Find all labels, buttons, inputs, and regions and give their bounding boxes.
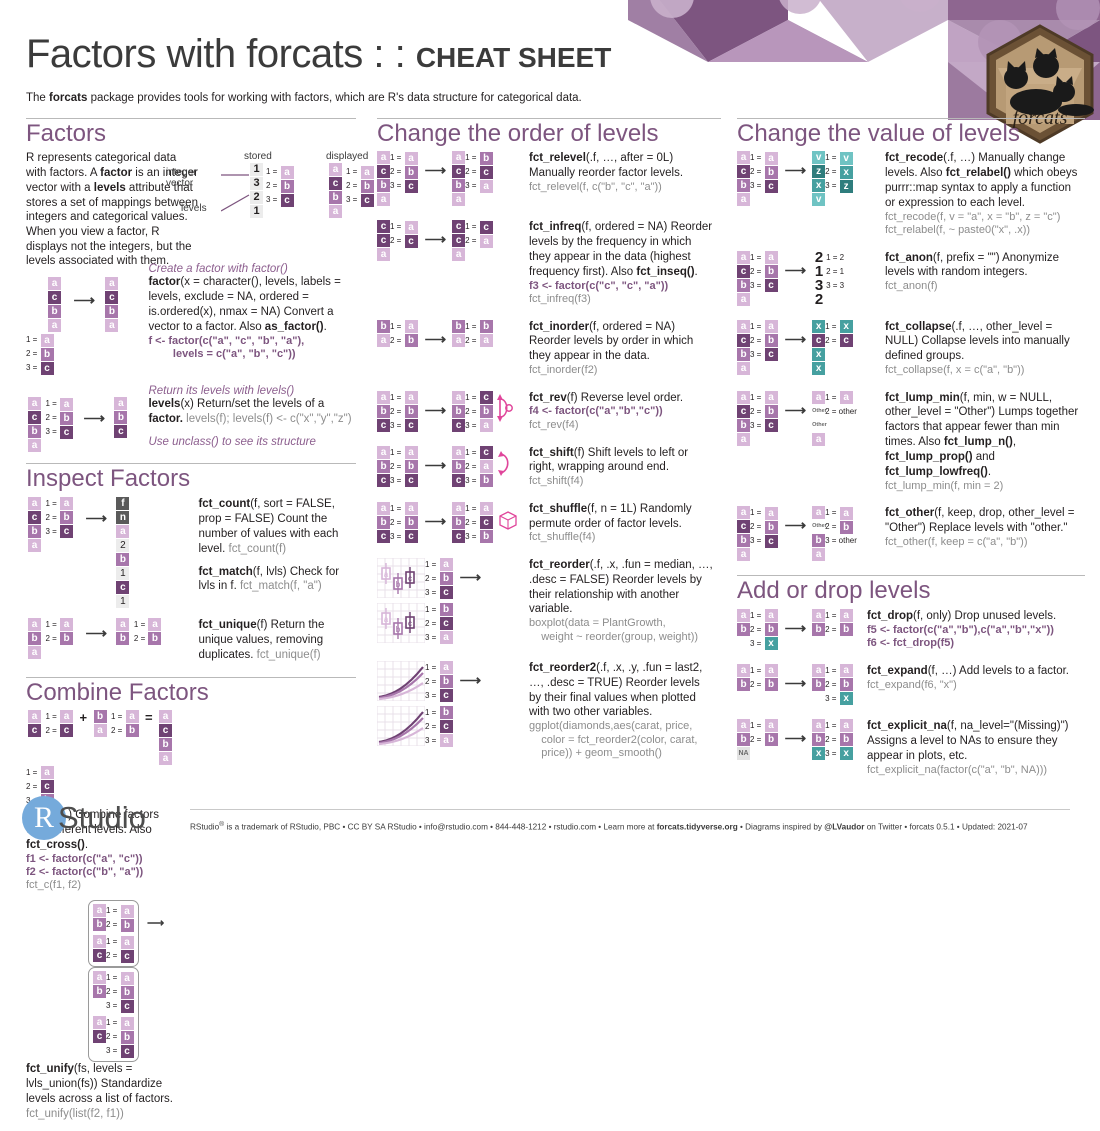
- example-fct-infreq: cca1 = a2 = c⟶cca1 = c2 = afct_infreq(f,…: [377, 220, 721, 306]
- column-left: Factors R represents categorical data wi…: [26, 118, 356, 1131]
- level-chip: c: [812, 334, 825, 347]
- svg-text:c: c: [408, 574, 412, 583]
- input-stack: cca: [377, 220, 390, 262]
- level-chip: b: [840, 623, 853, 636]
- input-stack: abNA: [737, 719, 750, 761]
- level-chip: a: [480, 334, 493, 347]
- txt-fct-other: fct_other(f, keep, drop, other_level = "…: [885, 506, 1081, 549]
- table-header-cell: n: [116, 511, 129, 524]
- level-chip: a: [452, 248, 465, 261]
- level-chip: a: [60, 497, 73, 510]
- example-fct-unique: aba 1 = a2 = b ⟶ ab 1 = a2 = b fct_uniqu…: [26, 618, 356, 663]
- displayed-stack: acba: [329, 163, 342, 219]
- level-chip: b: [737, 348, 750, 361]
- level-chip: a: [48, 319, 61, 332]
- level-chip: c: [405, 235, 418, 248]
- table-row: b1: [116, 553, 130, 580]
- table-count-cell: 1: [116, 595, 129, 608]
- transform-arrow: ⟶: [778, 609, 813, 637]
- fn-fct-count: fct_count(f, sort = FALSE, prop = FALSE)…: [198, 497, 348, 557]
- example-fct-expand: ab1 = a2 = b⟶ab1 = a2 = b3 = xfct_expand…: [737, 664, 1085, 706]
- level-chip: a: [440, 734, 453, 747]
- transform-arrow: ⟶: [778, 664, 813, 692]
- level-chip: b: [94, 710, 107, 723]
- displayed-stack: acba: [329, 163, 342, 219]
- input-mapping: 1 = a2 = b: [750, 664, 778, 692]
- level-chip: b: [405, 516, 418, 529]
- level-chip: Other: [812, 419, 825, 432]
- column-middle: Change the order of levels acba1 = a2 = …: [377, 118, 721, 773]
- level-chip: a: [329, 163, 342, 176]
- example-levels: acba 1 = a2 = b3 = c ⟶ abc Return its le…: [26, 385, 356, 453]
- level-chip: a: [737, 664, 750, 677]
- input-mapping: 1 = a2 = c: [390, 220, 418, 248]
- level-chip: b: [48, 305, 61, 318]
- level-chip: a: [361, 166, 374, 179]
- code-fct-c: f1 <- factor(c("a", "c")) f2 <- factor(c…: [26, 853, 174, 879]
- divider: [26, 677, 356, 678]
- fn-fct-collapse: fct_collapse(.f, …, other_level = NULL) …: [885, 320, 1081, 365]
- heading-create-factor: Create a factor with factor(): [148, 263, 353, 275]
- level-chip: c: [737, 165, 750, 178]
- viz-fct-rev: abc1 = a2 = b3 = c⟶abc1 = c2 = b3 = a: [377, 391, 529, 433]
- output-mapping: 1 = v2 = x3 = z: [825, 151, 853, 193]
- level-chip: b: [405, 460, 418, 473]
- level-chip: a: [440, 558, 453, 571]
- level-chip: b: [377, 516, 390, 529]
- code-purple: f5 <- factor(c("a","b"),c("a","b","x")) …: [867, 624, 1081, 650]
- section-title-value: Change the value of levels: [737, 121, 1085, 147]
- fctc-input1-stack: ac: [28, 710, 41, 738]
- level-chip: b: [41, 348, 54, 361]
- input-stack: abc: [377, 391, 390, 433]
- svg-text:b: b: [396, 580, 401, 589]
- level-chip: c: [480, 166, 493, 179]
- factor-output-stack: acba: [105, 277, 118, 333]
- level-chip: Other: [812, 520, 825, 533]
- viz-fct-unique: aba 1 = a2 = b ⟶ ab 1 = a2 = b: [26, 618, 194, 660]
- levels-input-mapping: 1 = a2 = b3 = c: [45, 397, 73, 439]
- level-chip: b: [812, 534, 825, 547]
- unique-input-mapping: 1 = a2 = b: [45, 618, 73, 646]
- factor-input-stack: acba: [48, 277, 61, 333]
- level-chip: c: [737, 265, 750, 278]
- example-fct-anon: acba1 = a2 = b3 = c⟶21321 = 22 = 13 = 3f…: [737, 251, 1085, 307]
- level-chip: a: [452, 193, 465, 206]
- level-chip: c: [765, 348, 778, 361]
- displayed-mapping-rows: 1 = a2 = b3 = c: [346, 165, 374, 207]
- fn-fct-explicit-na: fct_explicit_na(f, na_level="(Missing)")…: [867, 719, 1081, 764]
- level-chip: c: [121, 950, 134, 963]
- integer-chip: 1: [250, 205, 263, 218]
- level-chip: b: [60, 632, 73, 645]
- level-chip: b: [737, 279, 750, 292]
- output-mapping: 1 = c2 = a3 = b: [465, 446, 493, 488]
- level-chip: a: [737, 251, 750, 264]
- level-chip: b: [480, 474, 493, 487]
- example-fct-collapse: acba1 = a2 = b3 = c⟶xcxx1 = x2 = cfct_co…: [737, 320, 1085, 378]
- fn-fct-shuffle: fct_shuffle(f, n = 1L) Randomly permute …: [529, 502, 715, 532]
- reverse-icon: [493, 391, 514, 430]
- level-chip: a: [28, 710, 41, 723]
- level-chip: a: [28, 539, 41, 552]
- code-example: fct_other(f, keep = c("a", "b")): [885, 536, 1081, 549]
- level-chip: x: [812, 747, 825, 760]
- unify-stack: ac: [93, 935, 106, 963]
- level-chip: c: [480, 446, 493, 459]
- output-stack: abx: [812, 719, 825, 761]
- example-fct-shuffle: abc1 = a2 = b3 = c⟶abc1 = a2 = c3 = bfct…: [377, 502, 721, 545]
- level-chip: c: [765, 180, 778, 193]
- levels-output-stack: abc: [114, 397, 127, 439]
- txt-factor: Create a factor with factor() factor(x =…: [148, 263, 353, 361]
- level-chip: a: [377, 248, 390, 261]
- fn-fct-infreq: fct_infreq(f, ordered = NA) Reorder leve…: [529, 220, 715, 280]
- section-title-adddrop: Add or drop levels: [737, 578, 1085, 604]
- viz-fct-count: acba 1 = a2 = b3 = c ⟶ fna2b1c1: [26, 497, 194, 609]
- level-chip: b: [737, 534, 750, 547]
- level-chip: a: [405, 391, 418, 404]
- table-level-cell: a: [116, 525, 129, 538]
- level-chip: v: [812, 151, 825, 164]
- txt-fct-lump-min: fct_lump_min(f, min, w = NULL, other_lev…: [885, 391, 1081, 494]
- level-chip: c: [377, 419, 390, 432]
- heading-return-levels: Return its levels with levels(): [148, 385, 353, 397]
- unique-output-stack: ab: [116, 618, 129, 646]
- input-mapping: 1 = a2 = b3 = c: [390, 502, 418, 544]
- level-chip: c: [377, 474, 390, 487]
- fn-fct-match: fct_match(f, lvls) Check for lvls in f. …: [198, 565, 348, 595]
- input-mapping: 1 = a2 = b3 = c: [750, 320, 778, 362]
- unify-stack: ac: [93, 1016, 106, 1044]
- viz-fct-reorder: abc1 = a2 = b3 = c⟶abc1 = b2 = c3 = a: [377, 558, 529, 648]
- example-fct-inorder: ba1 = a2 = b⟶ba1 = b2 = afct_inorder(f, …: [377, 320, 721, 378]
- level-chip: a: [60, 710, 73, 723]
- level-chip: a: [812, 664, 825, 677]
- table-level-cell: b: [116, 553, 129, 566]
- level-chip: c: [737, 520, 750, 533]
- level-chip: b: [765, 265, 778, 278]
- level-chip: a: [737, 391, 750, 404]
- level-chip: a: [480, 235, 493, 248]
- level-chip: a: [812, 609, 825, 622]
- output-stack: cca: [452, 220, 465, 262]
- viz-fct-inorder: ba1 = a2 = b⟶ba1 = b2 = a: [377, 320, 529, 348]
- level-chip: b: [440, 706, 453, 719]
- level-chip: a: [840, 664, 853, 677]
- level-chip: a: [126, 710, 139, 723]
- level-chip: b: [737, 419, 750, 432]
- level-chip: a: [28, 397, 41, 410]
- viz-fct-lump-min: acba1 = a2 = b3 = c⟶aOtherOthera1 = a2 =…: [737, 391, 885, 447]
- level-chip: a: [840, 507, 853, 520]
- section-title-inspect: Inspect Factors: [26, 466, 356, 492]
- level-chip: c: [361, 194, 374, 207]
- input-mapping: 1 = a2 = b3 = c: [390, 446, 418, 488]
- transform-arrow: ⟶: [778, 320, 813, 348]
- txt-fct-reorder: fct_reorder(.f, .x, .fun = median, …, .d…: [529, 558, 715, 644]
- level-chip: c: [41, 362, 54, 375]
- viz-fct-recode: acba1 = a2 = b3 = c⟶vzxv1 = v2 = x3 = z: [737, 151, 885, 207]
- level-chip: c: [440, 720, 453, 733]
- level-chip: c: [28, 411, 41, 424]
- level-chip: c: [377, 220, 390, 233]
- input-mapping: 1 = a2 = b: [750, 719, 778, 747]
- factors-intro-block: R represents categorical data with facto…: [26, 151, 356, 257]
- integer-chip: 1: [250, 163, 263, 176]
- level-chip: a: [765, 664, 778, 677]
- level-chip: b: [452, 405, 465, 418]
- fn-fct-lump-min: fct_lump_min(f, min, w = NULL, other_lev…: [885, 391, 1081, 481]
- displayed-mapping: 1 = a2 = b3 = c: [346, 165, 374, 207]
- viz-fct-collapse: acba1 = a2 = b3 = c⟶xcxx1 = x2 = c: [737, 320, 885, 376]
- level-chip: b: [281, 180, 294, 193]
- code-example: ggplot(diamonds,aes(carat, price, color …: [529, 720, 715, 760]
- level-chip: c: [60, 426, 73, 439]
- level-chip: b: [377, 320, 390, 333]
- example-fct-lump-min: acba1 = a2 = b3 = c⟶aOtherOthera1 = a2 =…: [737, 391, 1085, 494]
- viz-fct-explicit-na: abNA1 = a2 = b⟶abx1 = a2 = b3 = x: [737, 719, 867, 761]
- input-mapping: 1 = a2 = b3 = c: [425, 661, 453, 703]
- output-stack: xcxx: [812, 320, 825, 376]
- example-fct-shift: abc1 = a2 = b3 = c⟶abc1 = c2 = a3 = bfct…: [377, 446, 721, 489]
- level-chip: b: [765, 623, 778, 636]
- output-mapping: 1 = a2 = b3 = x: [825, 719, 853, 761]
- output-stack: ab: [812, 609, 825, 637]
- level-chip: a: [480, 502, 493, 515]
- output-stack: abc: [452, 446, 465, 488]
- input-stack: acba: [737, 320, 750, 376]
- level-chip: x: [812, 362, 825, 375]
- txt-fct-infreq: fct_infreq(f, ordered = NA) Reorder leve…: [529, 220, 715, 306]
- code-example: fct_inorder(f2): [529, 364, 715, 377]
- code-example: fct_shift(f4): [529, 475, 715, 488]
- level-chip: c: [377, 234, 390, 247]
- boxplot-thumbnail: abc: [377, 558, 425, 603]
- output-stack: acba: [452, 151, 465, 207]
- level-chip: a: [116, 618, 129, 631]
- level-chip: a: [812, 548, 825, 561]
- level-chip: a: [765, 391, 778, 404]
- fct-count-table: fna2b1c1: [116, 497, 130, 609]
- level-chip: b: [840, 678, 853, 691]
- level-chip: b: [377, 405, 390, 418]
- input-mapping: 1 = a2 = b3 = c: [750, 151, 778, 193]
- level-chip: c: [440, 586, 453, 599]
- fn-fct-drop: fct_drop(f, only) Drop unused levels.: [867, 609, 1081, 624]
- level-chip: a: [765, 320, 778, 333]
- table-level-cell: c: [116, 581, 129, 594]
- level-chip: a: [377, 334, 390, 347]
- output-mapping: 1 = x2 = c: [825, 320, 853, 348]
- input-mapping: 1 = a2 = b3 = x: [750, 609, 778, 651]
- level-chip: c: [452, 530, 465, 543]
- level-chip: a: [60, 398, 73, 411]
- count-input-mapping: 1 = a2 = b3 = c: [45, 497, 73, 539]
- level-chip: c: [737, 334, 750, 347]
- example-fct-relevel: acba1 = a2 = b3 = c⟶acba1 = b2 = c3 = af…: [377, 151, 721, 207]
- level-chip: a: [440, 631, 453, 644]
- level-chip: v: [812, 193, 825, 206]
- level-chip: b: [114, 411, 127, 424]
- level-chip: b: [60, 511, 73, 524]
- divider: [737, 575, 1085, 576]
- input-stack: abc: [377, 502, 390, 544]
- level-chip: c: [765, 535, 778, 548]
- level-chip: a: [737, 548, 750, 561]
- example-factor: acba ⟶ acba 1 = a2 = b3 = c Create a fac…: [26, 263, 356, 375]
- integer-value: 2: [812, 293, 826, 307]
- factor-output-mapping: 1 = a2 = b3 = c: [26, 333, 54, 375]
- level-chip: x: [812, 179, 825, 192]
- level-chip: b: [377, 179, 390, 192]
- output-mapping: 1 = 22 = 13 = 3: [826, 251, 844, 293]
- level-chip: a: [452, 391, 465, 404]
- code-example: fct_explicit_na(factor(c("a", "b", NA))): [867, 764, 1081, 777]
- input-mapping: 1 = a2 = b3 = c: [425, 558, 453, 600]
- level-chip: c: [159, 724, 172, 737]
- level-chip: c: [405, 474, 418, 487]
- divider: [377, 118, 721, 119]
- output-mapping: 1 = b2 = c3 = a: [425, 706, 453, 748]
- level-chip: c: [28, 511, 41, 524]
- page-title: Factors with forcats : : CHEAT SHEET: [26, 32, 611, 77]
- level-chip: a: [105, 277, 118, 290]
- level-chip: c: [48, 291, 61, 304]
- input-stack: ab: [737, 609, 750, 637]
- level-chip: Other: [812, 405, 825, 418]
- unify-mapping: 1 = a2 = c: [106, 935, 134, 963]
- input-mapping: 1 = a2 = b3 = c: [750, 391, 778, 433]
- level-chip: c: [452, 419, 465, 432]
- label-integer-vector: integervector: [166, 167, 197, 189]
- code-example: fct_recode(f, v = "a", x = "b", z = "c")…: [885, 211, 1081, 237]
- level-chip: c: [452, 474, 465, 487]
- transform-arrow: ⟶: [418, 151, 453, 179]
- label-stored: stored: [244, 151, 272, 162]
- level-chip: b: [737, 623, 750, 636]
- shuffle-dice-icon: [493, 502, 518, 537]
- output-mapping: 1 = a2 = b3 = x: [825, 664, 853, 706]
- level-chip: b: [126, 724, 139, 737]
- level-chip: b: [405, 166, 418, 179]
- fn-fct-unify: fct_unify(fs, levels = lvls_union(fs)) S…: [26, 1062, 174, 1122]
- fn-fct-unique: fct_unique(f) Return the unique values, …: [198, 618, 348, 663]
- level-chip: b: [765, 405, 778, 418]
- level-chip: b: [765, 166, 778, 179]
- viz-fct-shift: abc1 = a2 = b3 = c⟶abc1 = c2 = a3 = b: [377, 446, 529, 488]
- level-chip: a: [737, 362, 750, 375]
- level-chip: b: [440, 572, 453, 585]
- title-cheatsheet: CHEAT SHEET: [416, 42, 612, 73]
- level-chip: b: [159, 738, 172, 751]
- level-chip: b: [452, 516, 465, 529]
- level-chip: c: [440, 617, 453, 630]
- level-chip: b: [440, 675, 453, 688]
- fn-fct-expand: fct_expand(f, …) Add levels to a factor.: [867, 664, 1081, 679]
- txt-fct-shift: fct_shift(f) Shift levels to left or rig…: [529, 446, 715, 489]
- example-fct-reorder2: 1 = a2 = b3 = c⟶1 = b2 = c3 = afct_reord…: [377, 661, 721, 760]
- viz-factor: acba ⟶ acba 1 = a2 = b3 = c: [26, 263, 144, 375]
- level-chip: c: [281, 194, 294, 207]
- footer: R Studio RStudio® is a trademark of RStu…: [0, 788, 1100, 850]
- level-chip: a: [377, 502, 390, 515]
- viz-fct-infreq: cca1 = a2 = c⟶cca1 = c2 = a: [377, 220, 529, 262]
- transform-arrow: ⟶: [453, 558, 488, 586]
- example-fct-rev: abc1 = a2 = b3 = c⟶abc1 = c2 = b3 = afct…: [377, 391, 721, 433]
- example-fct-other: acba1 = a2 = b3 = c⟶aOtherba1 = a2 = b3 …: [737, 506, 1085, 562]
- example-fct-drop: ab1 = a2 = b3 = x⟶ab1 = a2 = bfct_drop(f…: [737, 609, 1085, 651]
- fn-levels: levels(x) Return/set the levels of a fac…: [148, 397, 353, 427]
- fn-fct-relevel: fct_relevel(.f, …, after = 0L) Manually …: [529, 151, 715, 181]
- curves-thumbnail: [377, 661, 425, 706]
- output-mapping: 1 = a2 = other: [825, 391, 857, 419]
- level-chip: a: [28, 439, 41, 452]
- level-chip: a: [480, 460, 493, 473]
- count-input-stack: acba: [28, 497, 41, 553]
- table-count-cell: 2: [116, 539, 129, 552]
- unique-input-stack: aba: [28, 618, 41, 660]
- level-chip: a: [60, 618, 73, 631]
- level-chip: a: [377, 151, 390, 164]
- input-stack: acba: [377, 151, 390, 207]
- level-chip: c: [60, 525, 73, 538]
- input-stack: ba: [377, 320, 390, 348]
- level-chip: b: [405, 334, 418, 347]
- level-chip: a: [281, 166, 294, 179]
- fctc-output-stack: acba: [159, 710, 172, 766]
- input-stack: abc: [377, 446, 390, 488]
- input-mapping: 1 = a2 = b: [390, 320, 418, 348]
- level-chip: a: [405, 152, 418, 165]
- level-chip: b: [737, 678, 750, 691]
- input-stack: acba: [737, 506, 750, 562]
- level-chip: b: [116, 632, 129, 645]
- level-chip: x: [840, 320, 853, 333]
- input-mapping: 1 = a2 = b3 = c: [750, 251, 778, 293]
- transform-arrow: ⟶: [778, 506, 813, 534]
- unify-stack: ab: [93, 971, 106, 999]
- level-chip: b: [440, 603, 453, 616]
- level-chip: b: [812, 678, 825, 691]
- level-chip: a: [765, 152, 778, 165]
- example-fct-count: acba 1 = a2 = b3 = c ⟶ fna2b1c1 fct_coun…: [26, 497, 356, 609]
- svg-text:b: b: [396, 625, 401, 634]
- level-chip: a: [405, 320, 418, 333]
- integer-chip: 2: [250, 191, 263, 204]
- code-example: fct_relevel(f, c("b", "c", "a")): [529, 181, 715, 194]
- level-chip: a: [840, 391, 853, 404]
- output-mapping: 1 = a2 = c3 = b: [465, 502, 493, 544]
- level-chip: c: [405, 180, 418, 193]
- output-stack: ab: [812, 664, 825, 692]
- level-chip: b: [812, 733, 825, 746]
- level-chip: a: [159, 710, 172, 723]
- level-chip: a: [480, 180, 493, 193]
- level-chip: b: [405, 405, 418, 418]
- level-chip: a: [440, 661, 453, 674]
- level-chip: b: [148, 632, 161, 645]
- table-header-row: fn: [116, 497, 130, 524]
- level-chip: b: [765, 733, 778, 746]
- fn-fct-anon: fct_anon(f, prefix = "") Anonymize level…: [885, 251, 1081, 281]
- output-stack: aOtherba: [812, 506, 825, 562]
- output-mapping: 1 = c2 = a: [465, 220, 493, 248]
- level-chip: b: [121, 1031, 134, 1044]
- code-example: boxplot(data = PlantGrowth, weight ~ reo…: [529, 617, 715, 643]
- level-chip: b: [452, 460, 465, 473]
- level-chip: a: [737, 719, 750, 732]
